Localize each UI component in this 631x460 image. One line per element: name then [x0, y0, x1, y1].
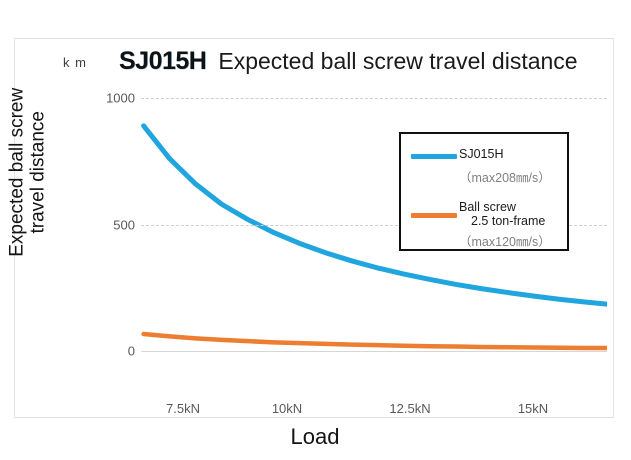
legend-label-ball-screw: Ball screw [459, 200, 516, 214]
x-axis-baseline [141, 351, 607, 352]
y-axis-tick-labels: 1000 500 0 [77, 98, 135, 351]
chart-title-model: SJ015H [119, 47, 206, 75]
gridline-1000 [141, 98, 607, 99]
legend-swatch-ball-screw [411, 213, 457, 218]
x-tick-7_5kN: 7.5kN [166, 401, 200, 416]
legend-swatch-sj015h [411, 154, 457, 159]
y-axis-unit-label: k m [63, 55, 87, 70]
y-axis-title-line2: travel distance [28, 111, 49, 234]
x-axis-title: Load [15, 424, 615, 450]
legend-sublabel-sj015h: （max208㎜/s） [459, 167, 551, 186]
x-tick-12_5kN: 12.5kN [389, 401, 430, 416]
y-axis-title: Expected ball screw travel distance [7, 7, 50, 337]
x-tick-15kN: 15kN [518, 401, 548, 416]
series-line-ball-screw [144, 334, 607, 348]
legend-sublabel-ball-screw: （max120㎜/s） [459, 231, 551, 250]
y-tick-1000: 1000 [85, 91, 135, 106]
y-tick-0: 0 [85, 344, 135, 359]
chart-legend: SJ015H （max208㎜/s） Ball screw 2.5 ton-fr… [399, 132, 569, 251]
legend-label-sj015h: SJ015H [459, 147, 503, 161]
x-tick-10kN: 10kN [272, 401, 302, 416]
chart-title: SJ015HExpected ball screw travel distanc… [119, 47, 578, 76]
chart-title-text: Expected ball screw travel distance [218, 48, 577, 74]
legend-label-ball-screw-2: 2.5 ton-frame [471, 214, 545, 228]
y-tick-500: 500 [85, 217, 135, 232]
y-axis-title-line1: Expected ball screw [7, 88, 28, 257]
chart-figure: k m SJ015HExpected ball screw travel dis… [14, 38, 614, 418]
